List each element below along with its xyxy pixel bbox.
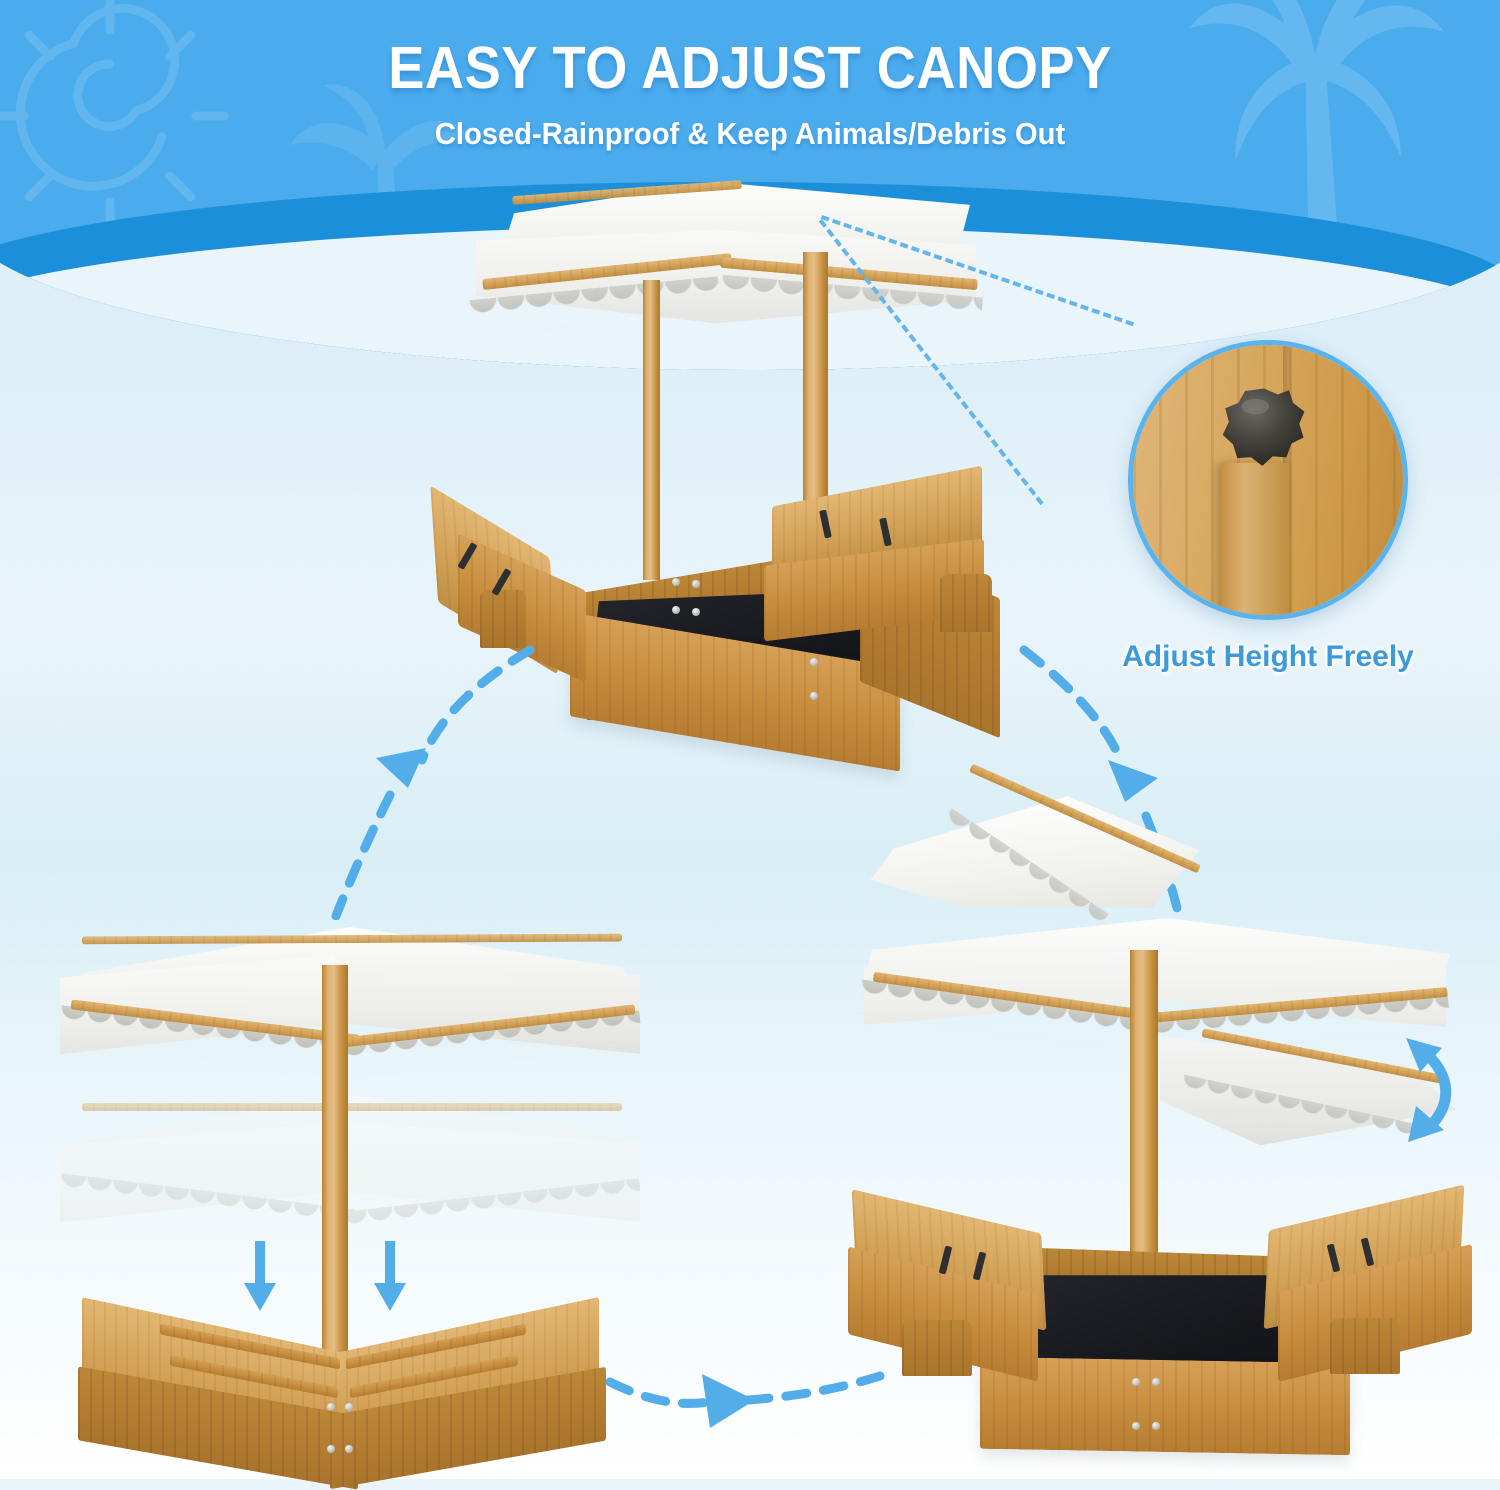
callout-adjustable-post [1221, 463, 1289, 620]
canopy-post-rear [643, 280, 660, 580]
hardware-screw [1152, 1378, 1160, 1386]
detail-callout-circle [1128, 340, 1408, 620]
arrow-down-left-icon [243, 1241, 277, 1313]
hardware-screw [1132, 1422, 1140, 1430]
hardware-screw [692, 580, 700, 588]
arrow-down-right-icon [373, 1241, 407, 1313]
open-bench-armrest-right [1330, 1318, 1400, 1374]
hardware-screw [810, 658, 818, 666]
page-subtitle: Closed-Rainproof & Keep Animals/Debris O… [45, 116, 1455, 152]
bench-armrest-left [480, 590, 526, 648]
page-title: EASY TO ADJUST CANOPY [60, 34, 1440, 102]
hardware-screw [345, 1403, 353, 1411]
open-bench-armrest-left [902, 1320, 972, 1376]
hardware-screw [1132, 1378, 1140, 1386]
panel-canopy-lowering [30, 905, 680, 1465]
promo-image-stage: EASY TO ADJUST CANOPY Closed-Rainproof &… [0, 0, 1500, 1479]
star-knob-icon [1221, 385, 1307, 471]
hardware-screw [672, 578, 680, 586]
hardware-screw [692, 608, 700, 616]
bench-armrest-right [940, 574, 992, 632]
hardware-screw [810, 692, 818, 700]
hardware-screw [345, 1445, 353, 1453]
hardware-screw [1152, 1422, 1160, 1430]
arrow-tilt-range-icon [1386, 1022, 1478, 1152]
hardware-screw [672, 606, 680, 614]
panel-canopy-tilting [830, 800, 1490, 1470]
hardware-screw [327, 1403, 335, 1411]
hardware-screw [327, 1445, 335, 1453]
main-product-image [420, 170, 1040, 840]
callout-label: Adjust Height Freely [1078, 640, 1458, 674]
